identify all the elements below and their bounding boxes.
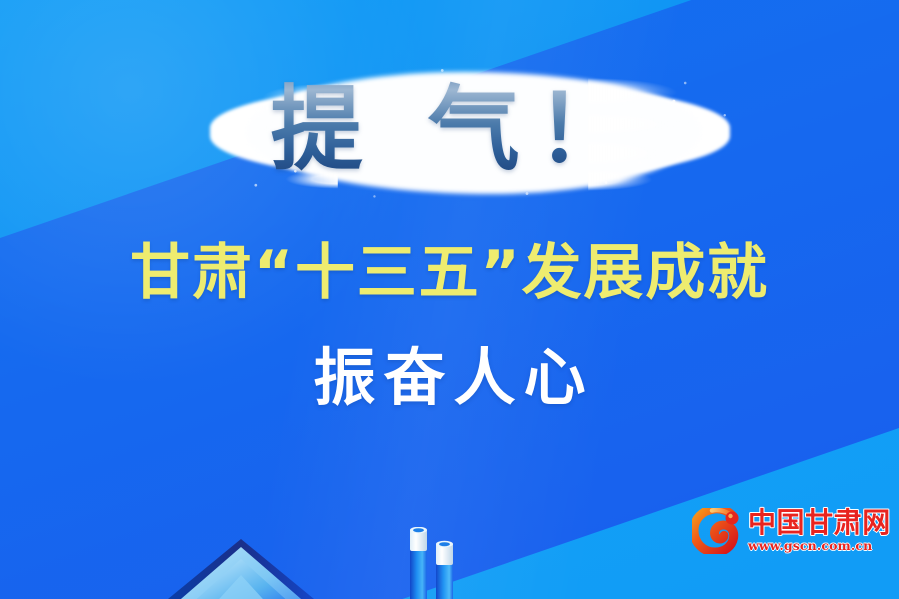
tubes-icon <box>404 527 466 599</box>
gscn-swirl-icon <box>692 508 742 554</box>
poster-canvas: 提 气！ 甘肃“十三五”发展成就 振奋人心 <box>0 0 899 599</box>
logo-name: 中国甘肃网 <box>748 509 891 537</box>
logo-text-block: 中国甘肃网 www.gscn.com.cn <box>748 509 891 553</box>
subtitle-line-1: 甘肃“十三五”发展成就 <box>0 236 899 310</box>
site-logo[interactable]: 中国甘肃网 www.gscn.com.cn <box>692 502 868 560</box>
subtitle-line-2: 振奋人心 <box>0 339 899 417</box>
page-title: 提 气！ <box>0 74 899 186</box>
logo-url: www.gscn.com.cn <box>748 540 891 553</box>
pyramid-icon <box>168 539 314 599</box>
